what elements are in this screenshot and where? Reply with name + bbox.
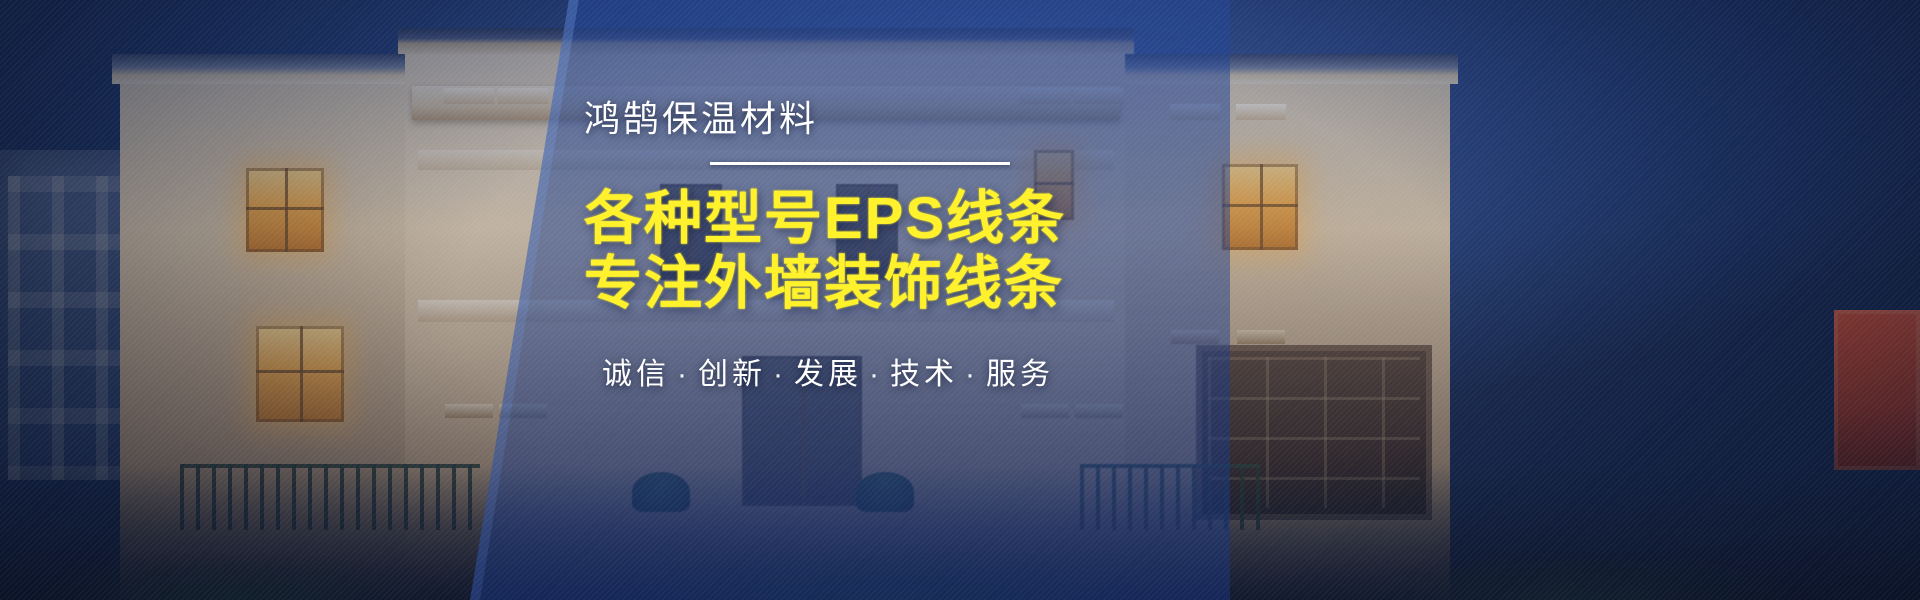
tagline-item: 发展 <box>794 358 862 391</box>
divider-rule <box>710 162 1010 165</box>
tagline-item: 技术 <box>890 358 958 391</box>
tagline-separator: · <box>958 358 986 391</box>
tagline-item: 创新 <box>698 358 766 391</box>
tagline-separator: · <box>670 358 698 391</box>
tagline-separator: · <box>862 358 890 391</box>
tagline-item: 服务 <box>986 358 1054 391</box>
headline-line-2: 专注外墙装饰线条 <box>584 252 1054 317</box>
brand-name: 鸿鹄保温材料 <box>584 98 1054 140</box>
hero-banner: 鸿鹄保温材料 各种型号EPS线条 专注外墙装饰线条 诚信·创新·发展·技术·服务 <box>0 0 1920 600</box>
tagline: 诚信·创新·发展·技术·服务 <box>602 349 1054 393</box>
tagline-separator: · <box>766 358 794 391</box>
tagline-item: 诚信 <box>602 358 670 391</box>
headline-line-1: 各种型号EPS线条 <box>584 187 1054 252</box>
headline: 各种型号EPS线条 专注外墙装饰线条 <box>584 187 1054 317</box>
banner-copy: 鸿鹄保温材料 各种型号EPS线条 专注外墙装饰线条 诚信·创新·发展·技术·服务 <box>584 98 1054 393</box>
